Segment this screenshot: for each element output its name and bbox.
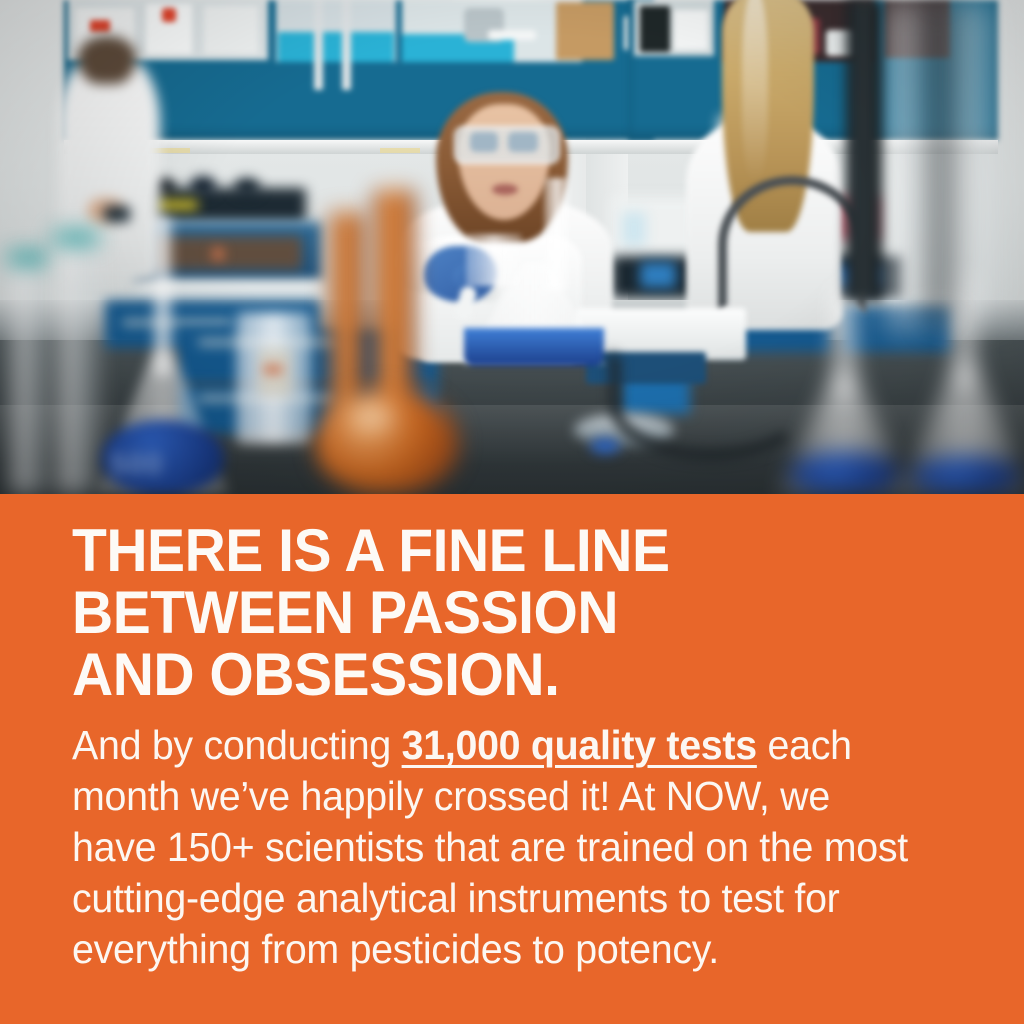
lab-post (846, 0, 882, 300)
cabinet-label-red (162, 8, 176, 22)
cabinet-tube (488, 30, 536, 40)
cabinet-blue-tray (278, 32, 394, 62)
cylinder-shadow (934, 0, 948, 320)
instrument-display (622, 212, 646, 246)
drawer-handle (122, 320, 232, 325)
hair-highlight (742, 0, 768, 182)
hair (78, 36, 136, 84)
bench-cable (610, 350, 810, 460)
cabinet-cardboard-box (556, 2, 614, 60)
cabinet-box (204, 6, 258, 54)
amber-flask-bulb (316, 390, 458, 494)
cabinet-divider (342, 0, 351, 90)
flask-volume-label: 500 (110, 448, 180, 482)
amber-highlight (352, 404, 392, 430)
flask-liquid-blue (912, 456, 1020, 494)
held-object (104, 206, 130, 222)
instrument-window (152, 236, 302, 270)
graduated-cylinder (884, 0, 932, 330)
cabinet-label-red (90, 20, 110, 32)
goggle-lens-left (470, 132, 498, 152)
cylinder-cap (54, 232, 98, 244)
body-copy-before: And by conducting (72, 722, 402, 768)
instrument-knob (234, 178, 260, 196)
cabinet-box (674, 10, 708, 50)
instrument-blue-indicator (640, 262, 676, 288)
goggle-lens-right (508, 132, 538, 152)
cylinder-cap (8, 252, 48, 264)
orange-text-panel: THERE IS A FINE LINE BETWEEN PASSION AND… (0, 494, 1024, 1024)
under-cabinet-light (380, 148, 420, 153)
lab-scene: 500 (0, 0, 1024, 494)
cabinet-dark-item (640, 6, 670, 52)
mouth (492, 184, 518, 195)
flask-liquid-blue (464, 328, 604, 366)
watch-glass-liquid (590, 438, 620, 454)
headline: THERE IS A FINE LINE BETWEEN PASSION AND… (72, 520, 927, 706)
cabinet-divider (314, 0, 323, 90)
stat-quality-tests: 31,000 quality tests (402, 722, 757, 768)
beaker (466, 234, 522, 286)
bottle-label-stripe (264, 366, 282, 373)
graduated-cylinder (54, 230, 98, 494)
graduated-cylinder (944, 0, 996, 320)
graduated-cylinder (8, 252, 48, 494)
body-copy: And by conducting 31,000 quality tests e… (72, 720, 917, 975)
instrument-indicator (212, 248, 224, 260)
lab-photo: 500 (0, 0, 1024, 494)
instrument-knob (190, 176, 216, 196)
promo-graphic: 500 (0, 0, 1024, 1024)
flask-liquid-blue (790, 452, 900, 494)
